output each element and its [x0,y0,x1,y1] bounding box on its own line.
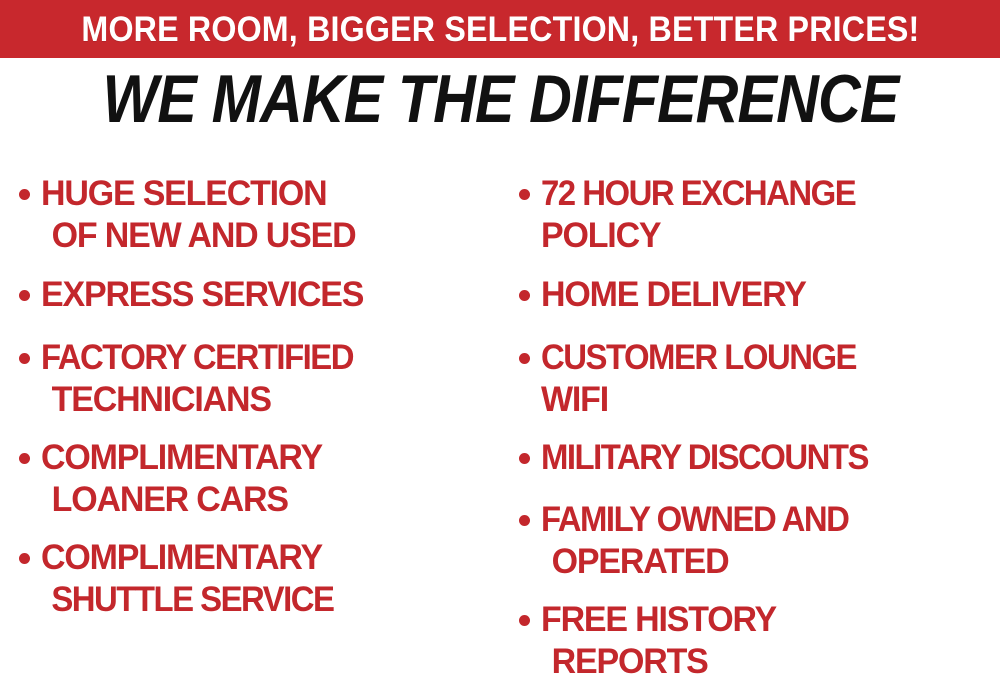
list-item: CUSTOMER LOUNGE WIFI [508,337,1000,421]
list-item: COMPLIMENTARY SHUTTLE SERVICE [8,537,500,621]
benefits-columns: HUGE SELECTION OF NEW AND USED EXPRESS S… [0,150,1000,694]
list-item-line2: WIFI [541,379,608,421]
list-item-line1: COMPLIMENTARY [41,537,322,579]
list-item-line1: FREE HISTORY [541,599,776,641]
list-item-line1: 72 HOUR EXCHANGE [541,173,855,215]
list-item: MILITARY DISCOUNTS [508,437,1000,479]
bullet-dot-icon [19,453,30,464]
list-item-line2: OPERATED [541,541,728,583]
page-title: WE MAKE THE DIFFERENCE [102,65,898,133]
list-item-line1: COMPLIMENTARY [41,437,322,479]
list-item-text: HOME DELIVERY [541,274,814,316]
bullet-dot-icon [519,353,530,364]
bullet-dot-icon [19,353,30,364]
bullet-dot-icon [19,290,30,301]
bullet-dot-icon [519,453,530,464]
list-item-line2: POLICY [541,215,660,257]
list-item-line2: OF NEW AND USED [41,215,355,257]
list-item-line1: HOME DELIVERY [541,274,806,316]
list-item-line1: MILITARY DISCOUNTS [541,437,868,479]
list-item: 72 HOUR EXCHANGE POLICY [508,173,1000,257]
list-item: HUGE SELECTION OF NEW AND USED [8,173,500,257]
benefits-column-right: 72 HOUR EXCHANGE POLICY HOME DELIVERY CU… [508,150,1000,694]
bullet-dot-icon [519,515,530,526]
benefits-column-left: HUGE SELECTION OF NEW AND USED EXPRESS S… [8,150,500,694]
bullet-dot-icon [519,290,530,301]
list-item-line2: TECHNICIANS [41,379,271,421]
list-item-line1: EXPRESS SERVICES [41,274,363,316]
list-item: HOME DELIVERY [508,274,1000,316]
list-item-line2: LOANER CARS [41,479,288,521]
list-item: FACTORY CERTIFIED TECHNICIANS [8,337,500,421]
list-item-text: CUSTOMER LOUNGE WIFI [541,337,876,421]
list-item-line1: CUSTOMER LOUNGE [541,337,856,379]
list-item-text: COMPLIMENTARY SHUTTLE SERVICE [41,537,352,621]
bullet-dot-icon [19,189,30,200]
bullet-dot-icon [519,189,530,200]
headline-container: WE MAKE THE DIFFERENCE [0,63,1000,135]
list-item-text: COMPLIMENTARY LOANER CARS [41,437,331,521]
promo-poster: MORE ROOM, BIGGER SELECTION, BETTER PRIC… [0,0,1000,694]
bullet-dot-icon [19,553,30,564]
list-item-text: FACTORY CERTIFIED TECHNICIANS [41,337,373,421]
bullet-dot-icon [519,615,530,626]
list-item-text: FREE HISTORY REPORTS [541,599,783,683]
list-item-text: HUGE SELECTION OF NEW AND USED [41,173,365,257]
list-item-text: FAMILY OWNED AND OPERATED [541,499,868,583]
list-item: FREE HISTORY REPORTS [508,599,1000,683]
list-item-line2: REPORTS [541,641,708,683]
list-item: EXPRESS SERVICES [8,274,500,316]
list-item: COMPLIMENTARY LOANER CARS [8,437,500,521]
banner-headline: MORE ROOM, BIGGER SELECTION, BETTER PRIC… [81,12,919,47]
list-item-line1: FAMILY OWNED AND [541,499,848,541]
list-item-text: 72 HOUR EXCHANGE POLICY [541,173,875,257]
list-item-line1: FACTORY CERTIFIED [41,337,353,379]
top-banner: MORE ROOM, BIGGER SELECTION, BETTER PRIC… [0,0,1000,58]
list-item-line2: SHUTTLE SERVICE [41,579,333,621]
list-item-text: MILITARY DISCOUNTS [541,437,889,479]
list-item-line1: HUGE SELECTION [41,173,327,215]
list-item: FAMILY OWNED AND OPERATED [508,499,1000,583]
list-item-text: EXPRESS SERVICES [41,274,373,316]
